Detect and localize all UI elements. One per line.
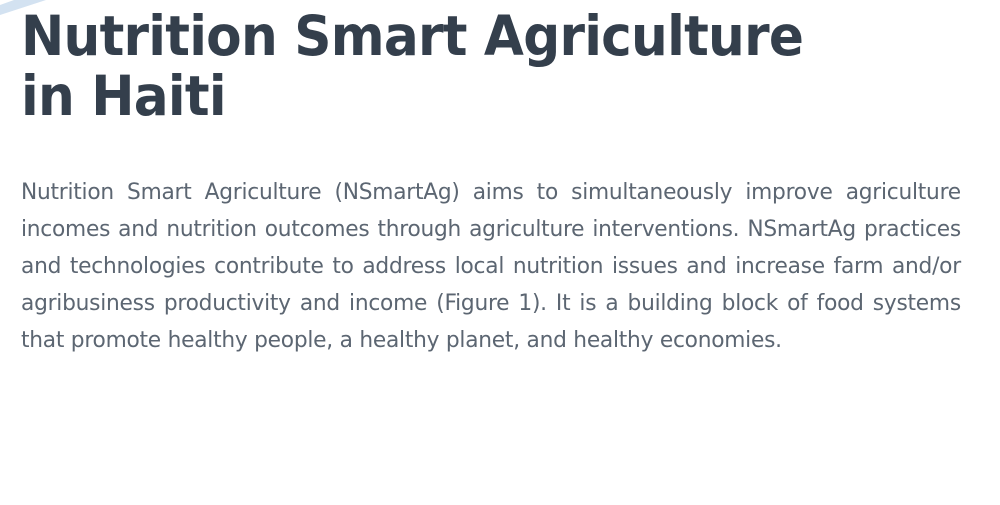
document-content: Nutrition Smart Agriculture in Haiti Nut…: [21, 0, 979, 359]
page-title: Nutrition Smart Agriculture in Haiti: [21, 0, 922, 126]
body-paragraph: Nutrition Smart Agriculture (NSmartAg) a…: [21, 126, 961, 359]
document-page: Nutrition Smart Agriculture in Haiti Nut…: [0, 0, 1000, 505]
